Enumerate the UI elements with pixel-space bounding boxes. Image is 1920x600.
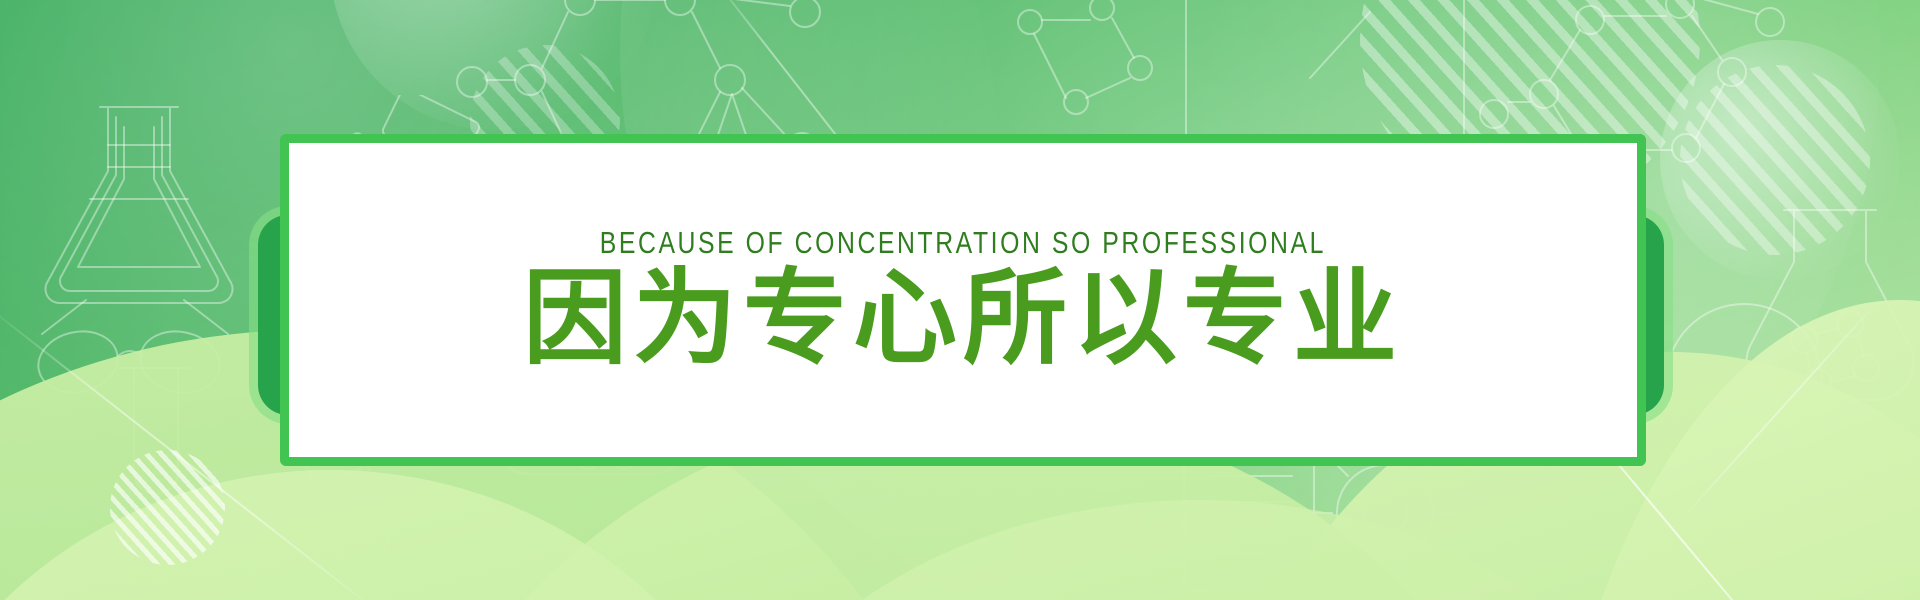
test-tube-icon <box>90 360 240 520</box>
banner-headline: 因为专心所以专业 <box>523 264 1403 373</box>
banner-subtitle: BECAUSE OF CONCENTRATION SO PROFESSIONAL <box>600 227 1326 258</box>
diagonal-hairline <box>1679 297 1881 521</box>
striped-circle <box>1680 65 1870 255</box>
promo-banner: BECAUSE OF CONCENTRATION SO PROFESSIONAL… <box>0 0 1920 600</box>
glasses-icon <box>30 280 240 420</box>
soft-blob <box>1660 40 1900 280</box>
bottom-hill <box>700 500 1700 600</box>
flask-round-icon <box>1720 200 1920 440</box>
erlenmeyer-flask-icon <box>20 95 260 315</box>
headline-card: BECAUSE OF CONCENTRATION SO PROFESSIONAL… <box>280 134 1646 466</box>
bottom-hill <box>0 470 780 600</box>
soft-blob <box>330 0 660 130</box>
molecule-hexagon-icon <box>1620 430 1920 600</box>
molecule-hexagon-icon <box>990 0 1170 132</box>
striped-circle <box>110 450 225 565</box>
venus-symbol-icon <box>1640 290 1850 570</box>
